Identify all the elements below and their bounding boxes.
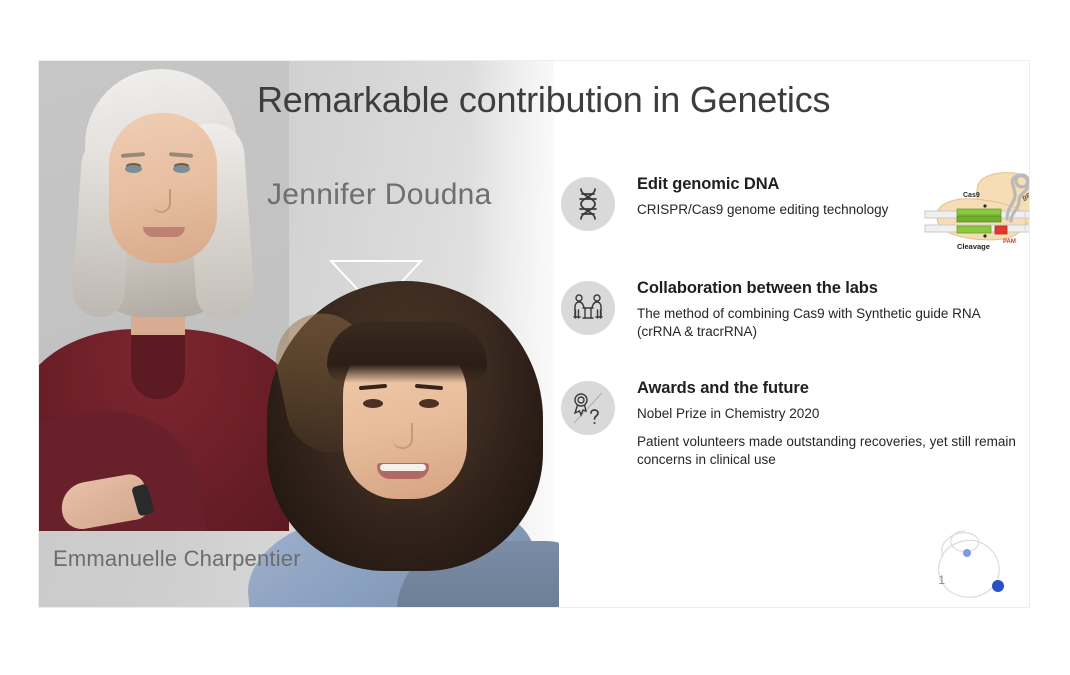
charpentier-teeth — [380, 464, 426, 471]
svg-text:PAM: PAM — [1003, 239, 1016, 245]
row-heading: Collaboration between the labs — [637, 279, 1021, 298]
row-heading: Awards and the future — [637, 379, 1021, 398]
charpentier-eye-left — [363, 399, 383, 408]
doudna-mouth — [143, 227, 185, 237]
charpentier-eye-right — [419, 399, 439, 408]
charpentier-nose — [393, 423, 413, 449]
doudna-nose — [153, 189, 171, 213]
award-question-icon — [561, 381, 615, 435]
row-body: Nobel Prize in Chemistry 2020 — [637, 405, 1021, 423]
name-label-emmanuelle-charpentier: Emmanuelle Charpentier — [53, 546, 301, 572]
row-text-block: Awards and the future Nobel Prize in Che… — [615, 377, 1021, 469]
crispr-cas9-diagram: Cas9 gRNA dsDNA PAM Cleavage — [923, 167, 1030, 267]
doudna-collar — [131, 335, 185, 399]
dna-helix-icon — [561, 177, 615, 231]
name-label-jennifer-doudna: Jennifer Doudna — [267, 178, 492, 212]
content-row-collaboration: Collaboration between the labs The metho… — [561, 277, 1021, 341]
doudna-eye-left — [125, 165, 142, 173]
page-title: Remarkable contribution in Genetics — [257, 79, 830, 121]
svg-text:Cleavage: Cleavage — [957, 242, 990, 251]
doudna-face — [109, 113, 217, 263]
collaboration-meeting-icon — [561, 281, 615, 335]
doudna-eye-right — [173, 165, 190, 173]
row-body: Patient volunteers made outstanding reco… — [637, 433, 1021, 469]
row-body: The method of combining Cas9 with Synthe… — [637, 305, 1021, 341]
presentation-slide: Jennifer Doudna Emmanuelle Charpentier R… — [38, 60, 1030, 608]
charpentier-bangs — [327, 321, 487, 383]
corner-decoration — [919, 523, 1023, 605]
charpentier-mouth — [377, 463, 429, 479]
content-row-awards: Awards and the future Nobel Prize in Che… — [561, 377, 1021, 469]
svg-text:Cas9: Cas9 — [963, 192, 980, 199]
slide-number: 1 — [938, 573, 945, 587]
row-text-block: Collaboration between the labs The metho… — [615, 277, 1021, 341]
